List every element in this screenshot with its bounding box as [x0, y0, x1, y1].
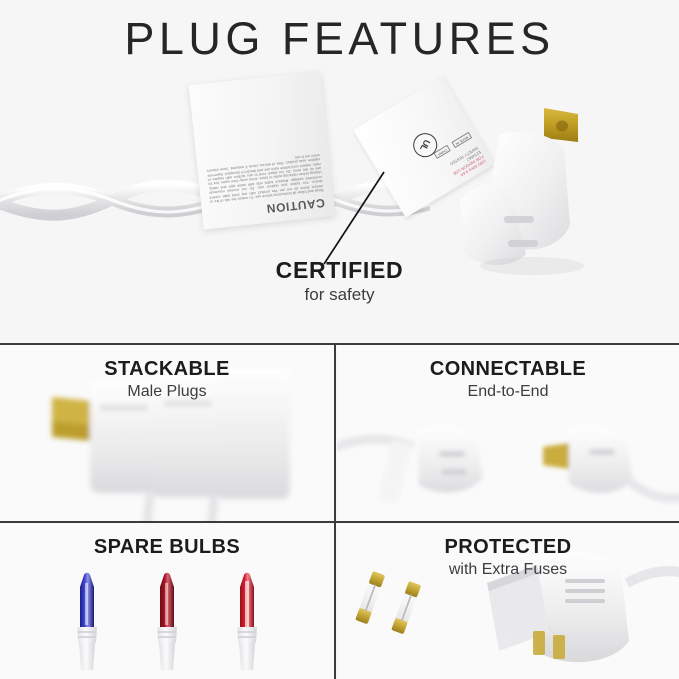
spare-bulbs-group	[0, 571, 334, 679]
panel-stackable-subtitle: Male Plugs	[0, 383, 334, 401]
panel-stackable-title: STACKABLE	[0, 345, 334, 380]
divider-vertical	[334, 343, 336, 679]
panel-protected-title: PROTECTED	[337, 523, 679, 558]
panel-protected-subtitle: with Extra Fuses	[337, 561, 679, 579]
panel-connectable-title: CONNECTABLE	[337, 345, 679, 380]
panel-stackable: STACKABLE Male Plugs	[0, 345, 334, 521]
panel-connectable: CONNECTABLE End-to-End	[337, 345, 679, 521]
panel-spare-bulbs: SPARE BULBS	[0, 523, 334, 679]
fuse-cartridge	[355, 571, 385, 624]
bulb-blue	[67, 571, 107, 676]
infographic-root: PLUG FEATURES CAUTION Read and	[0, 0, 679, 679]
panel-spare-title: SPARE BULBS	[0, 523, 334, 558]
fuse-cartridge	[391, 581, 421, 634]
certified-subtitle: for safety	[0, 286, 679, 305]
hero-plug	[452, 104, 642, 279]
panel-protected: PROTECTED with Extra Fuses	[337, 523, 679, 679]
certified-title: CERTIFIED	[0, 258, 679, 282]
callout-leader-line	[300, 170, 410, 270]
panel-connectable-subtitle: End-to-End	[337, 383, 679, 401]
hero-section: PLUG FEATURES CAUTION Read and	[0, 0, 679, 344]
bulb-dark-red	[147, 571, 187, 676]
brass-blade-icon	[544, 108, 578, 142]
bulb-red	[227, 571, 267, 676]
certified-callout: CERTIFIED for safety	[0, 258, 679, 305]
page-title: PLUG FEATURES	[0, 16, 679, 61]
